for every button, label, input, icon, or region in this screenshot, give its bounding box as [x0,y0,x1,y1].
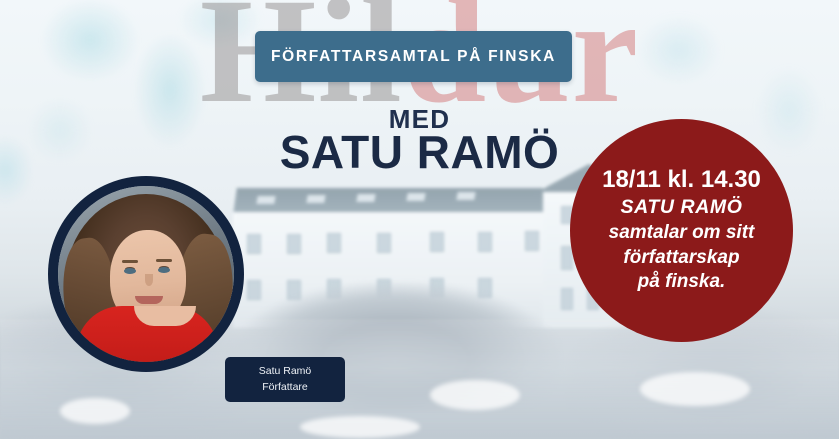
portrait-eyebrow-left [122,260,138,263]
background-snow-patch [640,372,750,406]
building-window [247,234,261,254]
event-details-badge: 18/11 kl. 14.30 SATU RAMÖ samtalar om si… [570,119,793,342]
background-snow-patch [60,398,130,424]
background-snow-patch [300,416,420,438]
building-roof [233,188,557,214]
badge-description-line-2: författarskap [623,246,739,271]
badge-author-name: SATU RAMÖ [620,196,742,219]
portrait-red-top [76,306,218,362]
portrait-eye-left [124,268,136,274]
building-dormer [456,192,475,200]
building-window [525,231,539,251]
building-window [478,232,492,252]
caption-role: Författare [262,380,308,395]
caption-name: Satu Ramö [259,364,312,379]
badge-description-line-1: samtalar om sitt [609,221,755,246]
portrait-collar [134,306,196,326]
portrait-mouth [135,296,163,304]
portrait-nose [145,274,153,286]
building-window [377,233,391,253]
ribbon-banner: FÖRFATTARSAMTAL PÅ FINSKA [255,31,572,82]
building-window [287,234,301,254]
portrait-frame [48,176,244,372]
portrait-eyebrow-right [156,259,172,262]
avatar [58,186,234,362]
event-poster: Hildur FÖRFATTARSAMTAL PÅ FINSKA MED SAT… [0,0,839,439]
background-snow-patch [430,380,520,410]
portrait-caption: Satu Ramö Författare [225,357,345,402]
building-dormer [356,194,375,202]
building-window [327,233,341,253]
building-dormer [406,193,425,201]
badge-description-line-3: på finska. [638,270,726,295]
building-window [430,232,444,252]
portrait-eye-right [158,267,170,273]
badge-date-time: 18/11 kl. 14.30 [602,166,761,194]
building-dormer [256,196,275,204]
building-dormer [306,195,325,203]
ribbon-label: FÖRFATTARSAMTAL PÅ FINSKA [271,48,556,66]
